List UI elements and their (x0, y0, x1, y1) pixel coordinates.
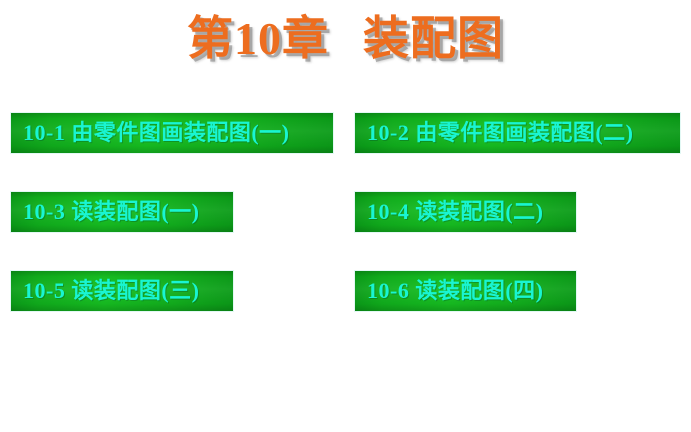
menu-row: 10-5 读装配图(三) 10-6 读装配图(四) (0, 271, 691, 350)
menu-button-label: 10-3 读装配图(一) (23, 201, 199, 223)
menu-button-label: 10-5 读装配图(三) (23, 280, 199, 302)
menu-button-10-5[interactable]: 10-5 读装配图(三) (11, 271, 233, 311)
menu-button-label: 10-4 读装配图(二) (367, 201, 543, 223)
menu-button-10-4[interactable]: 10-4 读装配图(二) (355, 192, 576, 232)
menu-button-10-1[interactable]: 10-1 由零件图画装配图(一) (11, 113, 333, 153)
menu-button-10-6[interactable]: 10-6 读装配图(四) (355, 271, 576, 311)
menu-button-label: 10-6 读装配图(四) (367, 280, 543, 302)
menu-button-10-3[interactable]: 10-3 读装配图(一) (11, 192, 233, 232)
chapter-menu: 10-1 由零件图画装配图(一) 10-2 由零件图画装配图(二) 10-3 读… (0, 113, 691, 350)
menu-button-label: 10-1 由零件图画装配图(一) (23, 122, 289, 144)
page-title-suffix: 装配图 (363, 16, 504, 62)
menu-button-label: 10-2 由零件图画装配图(二) (367, 122, 633, 144)
menu-row: 10-1 由零件图画装配图(一) 10-2 由零件图画装配图(二) (0, 113, 691, 192)
menu-button-10-2[interactable]: 10-2 由零件图画装配图(二) (355, 113, 680, 153)
page-title: 第10章 装配图 (0, 8, 691, 70)
menu-row: 10-3 读装配图(一) 10-4 读装配图(二) (0, 192, 691, 271)
page-title-prefix: 第10章 (187, 16, 329, 62)
